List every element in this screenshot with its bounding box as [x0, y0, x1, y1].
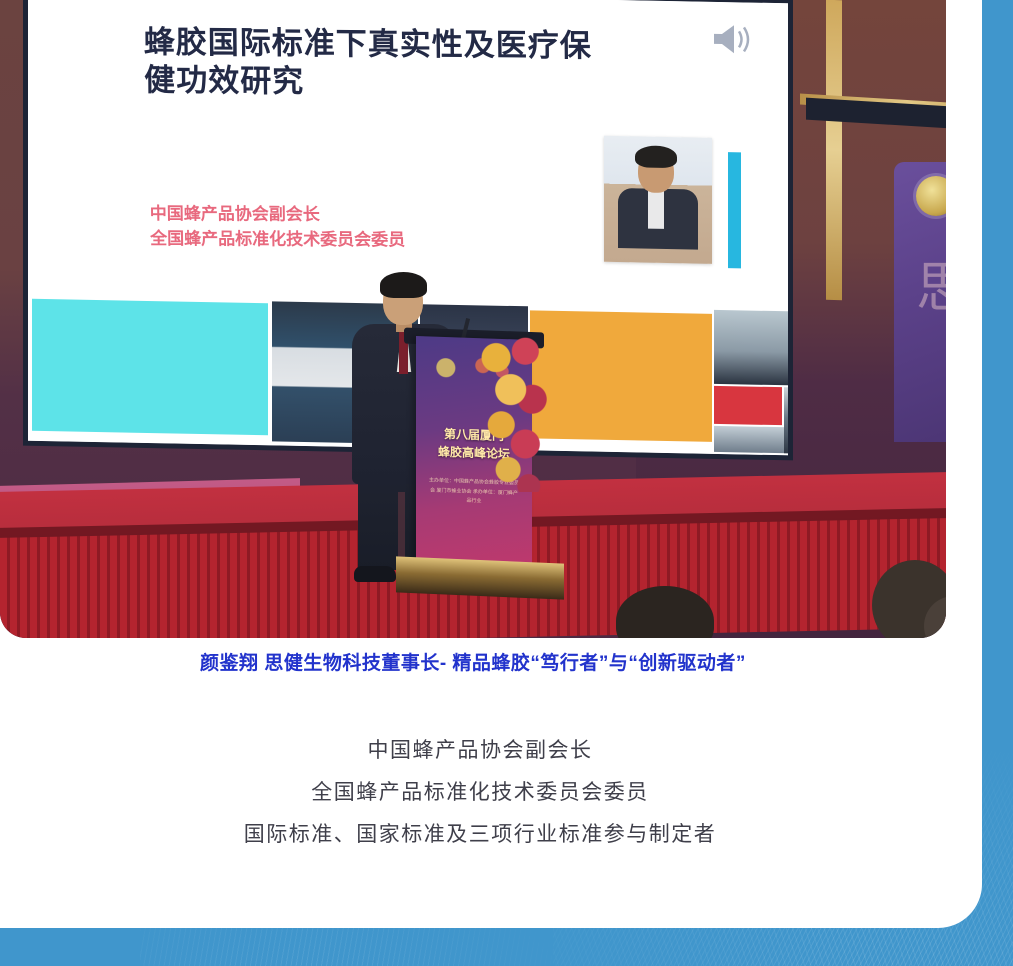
credentials-block: 中国蜂产品协会副会长 全国蜂产品标准化技术委员会委员 国际标准、国家标准及三项行…	[0, 730, 960, 856]
collage-group-photo-2	[714, 426, 788, 454]
hair-shape	[635, 145, 677, 168]
volume-speaker-icon	[710, 20, 754, 59]
speaker-hair	[380, 272, 427, 298]
collage-group-photo-3	[784, 387, 788, 455]
slide-title: 蜂胶国际标准下真实性及医疗保健功效研究	[144, 23, 615, 103]
content-card: 思 蜂胶国际标准下真实性及医疗保健功效研究 中国蜂产品协会副会长 全国蜂产品标准…	[0, 0, 982, 928]
collage-cyan-block	[32, 299, 268, 436]
collage-red-label	[714, 386, 782, 425]
podium-base	[396, 556, 564, 599]
slide-subtitle-line-2: 全国蜂产品标准化技术委员会委员	[150, 227, 580, 254]
shirt-shape	[648, 189, 664, 229]
conference-stage-photo: 思 蜂胶国际标准下真实性及医疗保健功效研究 中国蜂产品协会副会长 全国蜂产品标准…	[0, 0, 946, 638]
collage-group-photo-1	[714, 310, 788, 386]
gold-pillar-vertical	[826, 0, 842, 300]
flower-arrangement	[472, 332, 558, 492]
speaker-shoe-left	[354, 566, 396, 582]
cyan-accent-bar	[728, 152, 741, 268]
slide-subtitle-line-1: 中国蜂产品协会副会长	[150, 202, 580, 229]
page-root: 思 蜂胶国际标准下真实性及医疗保健功效研究 中国蜂产品协会副会长 全国蜂产品标准…	[0, 0, 1013, 966]
slide-subtitle: 中国蜂产品协会副会长 全国蜂产品标准化技术委员会委员	[150, 202, 581, 254]
credential-line-3: 国际标准、国家标准及三项行业标准参与制定者	[0, 814, 960, 856]
credential-line-2: 全国蜂产品标准化技术委员会委员	[0, 772, 960, 814]
slide-headshot-photo	[604, 136, 712, 264]
photo-caption: 颜鉴翔 思健生物科技董事长- 精品蜂胶“笃行者”与“创新驱动者”	[0, 648, 946, 675]
credential-line-1: 中国蜂产品协会副会长	[0, 730, 960, 772]
banner-character: 思	[908, 248, 946, 328]
